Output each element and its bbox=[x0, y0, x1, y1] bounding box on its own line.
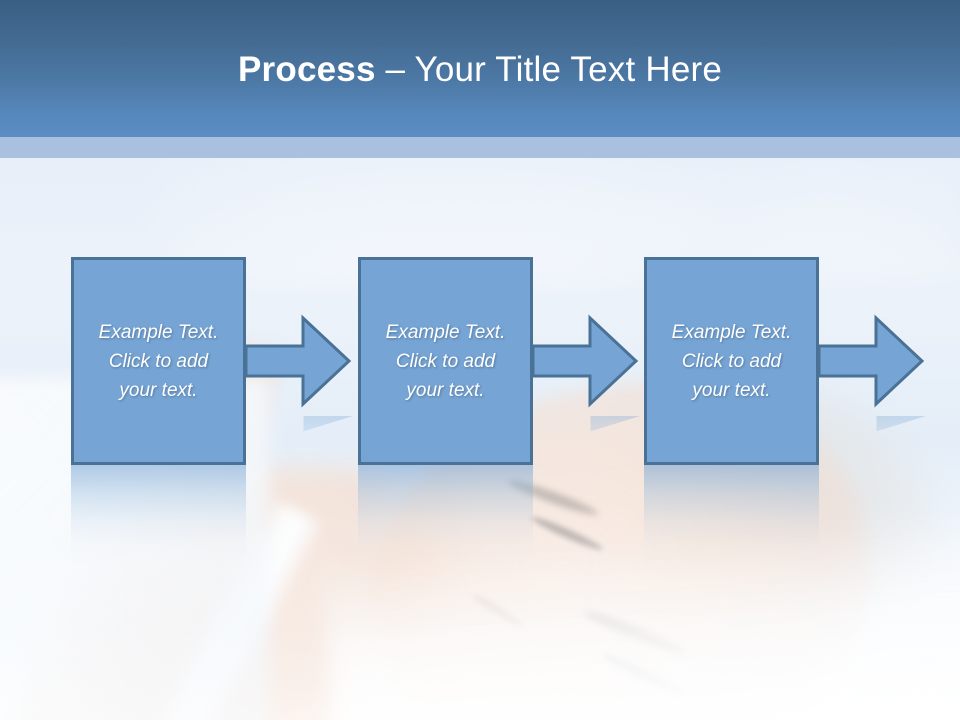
arrow-reflection bbox=[816, 416, 926, 486]
process-step-3[interactable]: Example Text. Click to add your text. bbox=[644, 257, 819, 465]
step-reflection bbox=[644, 465, 819, 567]
right-arrow-icon bbox=[243, 306, 353, 416]
right-arrow-icon bbox=[816, 306, 926, 416]
arrow-reflection bbox=[243, 416, 353, 486]
presentation-slide: Process – Your Title Text Here Example T… bbox=[0, 0, 960, 720]
process-step-box[interactable]: Example Text. Click to add your text. bbox=[71, 257, 246, 465]
step-reflection bbox=[358, 465, 533, 567]
process-step-box[interactable]: Example Text. Click to add your text. bbox=[358, 257, 533, 465]
process-step-box[interactable]: Example Text. Click to add your text. bbox=[644, 257, 819, 465]
arrow-reflection bbox=[530, 416, 640, 486]
process-step-label: Example Text. Click to add your text. bbox=[376, 318, 516, 405]
process-step-label: Example Text. Click to add your text. bbox=[89, 318, 229, 405]
process-step-1[interactable]: Example Text. Click to add your text. bbox=[71, 257, 246, 465]
process-diagram: Example Text. Click to add your text. Ex… bbox=[0, 0, 960, 720]
step-reflection bbox=[71, 465, 246, 567]
process-step-label: Example Text. Click to add your text. bbox=[662, 318, 802, 405]
right-arrow-icon bbox=[530, 306, 640, 416]
process-step-2[interactable]: Example Text. Click to add your text. bbox=[358, 257, 533, 465]
